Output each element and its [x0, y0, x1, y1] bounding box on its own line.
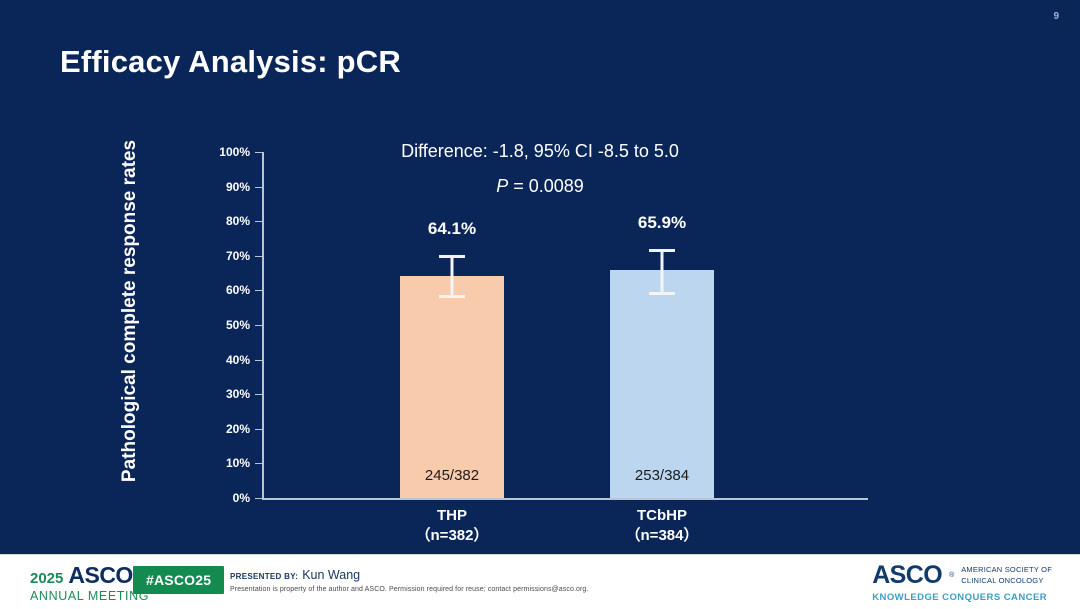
y-tick-label: 90%	[226, 180, 250, 194]
y-tick-label: 60%	[226, 283, 250, 297]
org-full-name: AMERICAN SOCIETY OF CLINICAL ONCOLOGY	[961, 565, 1052, 585]
error-bar-cap-bottom	[439, 295, 465, 298]
org-tagline: KNOWLEDGE CONQUERS CANCER	[872, 593, 1052, 603]
x-category-tcbhp: TCbHP（n=384）	[572, 506, 752, 547]
y-tick	[255, 187, 262, 188]
y-tick	[255, 256, 262, 257]
x-axis-line	[262, 498, 868, 500]
y-tick	[255, 394, 262, 395]
y-tick-label: 20%	[226, 422, 250, 436]
x-category-thp: THP（n=382）	[362, 506, 542, 547]
bar-fraction-label: 245/382	[425, 467, 479, 484]
slide: 9 Efficacy Analysis: pCR Pathological co…	[0, 0, 1080, 609]
y-tick-label: 100%	[219, 145, 250, 159]
error-bar	[439, 255, 465, 298]
bar-value-label: 64.1%	[428, 219, 476, 239]
error-bar-cap-bottom	[649, 292, 675, 295]
plot-area: 0%10%20%30%40%50%60%70%80%90%100% 245/38…	[262, 152, 868, 498]
meeting-brand: ASCO	[68, 564, 132, 587]
error-bar-cap-top	[649, 249, 675, 252]
slide-footer: 2025 ASCO ® ANNUAL MEETING #ASCO25 PRESE…	[0, 554, 1080, 609]
bar-thp: 245/38264.1%	[400, 152, 504, 498]
x-category-n: （n=384）	[572, 526, 752, 546]
bar-rect	[610, 270, 714, 498]
bar-fraction-label: 253/384	[635, 467, 689, 484]
presenter-name: Kun Wang	[302, 568, 360, 582]
y-tick	[255, 360, 262, 361]
hashtag-badge: #ASCO25	[133, 566, 224, 594]
y-tick-label: 40%	[226, 353, 250, 367]
disclaimer-text: Presentation is property of the author a…	[230, 586, 588, 593]
y-tick	[255, 290, 262, 291]
y-tick	[255, 152, 262, 153]
bar-value-label: 65.9%	[638, 213, 686, 233]
y-tick	[255, 429, 262, 430]
x-category-name: THP	[362, 506, 542, 526]
org-name-line2: CLINICAL ONCOLOGY	[961, 576, 1043, 585]
footer-divider	[0, 554, 1080, 555]
y-tick	[255, 221, 262, 222]
bar-tcbhp: 253/38465.9%	[610, 152, 714, 498]
meeting-subtitle: ANNUAL MEETING	[30, 590, 149, 603]
x-category-name: TCbHP	[572, 506, 752, 526]
y-tick-label: 10%	[226, 456, 250, 470]
asco-annual-meeting-logo: 2025 ASCO ® ANNUAL MEETING	[30, 564, 149, 603]
y-tick	[255, 463, 262, 464]
error-bar-line	[451, 255, 454, 298]
error-bar	[649, 249, 675, 295]
meeting-year: 2025	[30, 571, 63, 586]
y-axis-line	[262, 152, 264, 498]
presented-by-label: PRESENTED BY:	[230, 572, 298, 581]
error-bar-line	[661, 249, 664, 295]
y-tick-label: 70%	[226, 249, 250, 263]
y-tick-label: 50%	[226, 318, 250, 332]
org-registered-mark: ®	[949, 572, 954, 579]
y-tick-label: 30%	[226, 387, 250, 401]
error-bar-cap-top	[439, 255, 465, 258]
y-tick	[255, 498, 262, 499]
org-name-line1: AMERICAN SOCIETY OF	[961, 565, 1052, 574]
pcr-bar-chart: Pathological complete response rates Dif…	[0, 0, 1080, 560]
y-tick	[255, 325, 262, 326]
org-brand: ASCO	[872, 563, 942, 588]
x-category-n: （n=382）	[362, 526, 542, 546]
presented-by: PRESENTED BY:Kun Wang	[230, 566, 360, 584]
y-tick-label: 0%	[233, 491, 250, 505]
asco-org-logo: ASCO ® AMERICAN SOCIETY OF CLINICAL ONCO…	[872, 563, 1052, 603]
y-tick-label: 80%	[226, 214, 250, 228]
bar-rect	[400, 276, 504, 498]
